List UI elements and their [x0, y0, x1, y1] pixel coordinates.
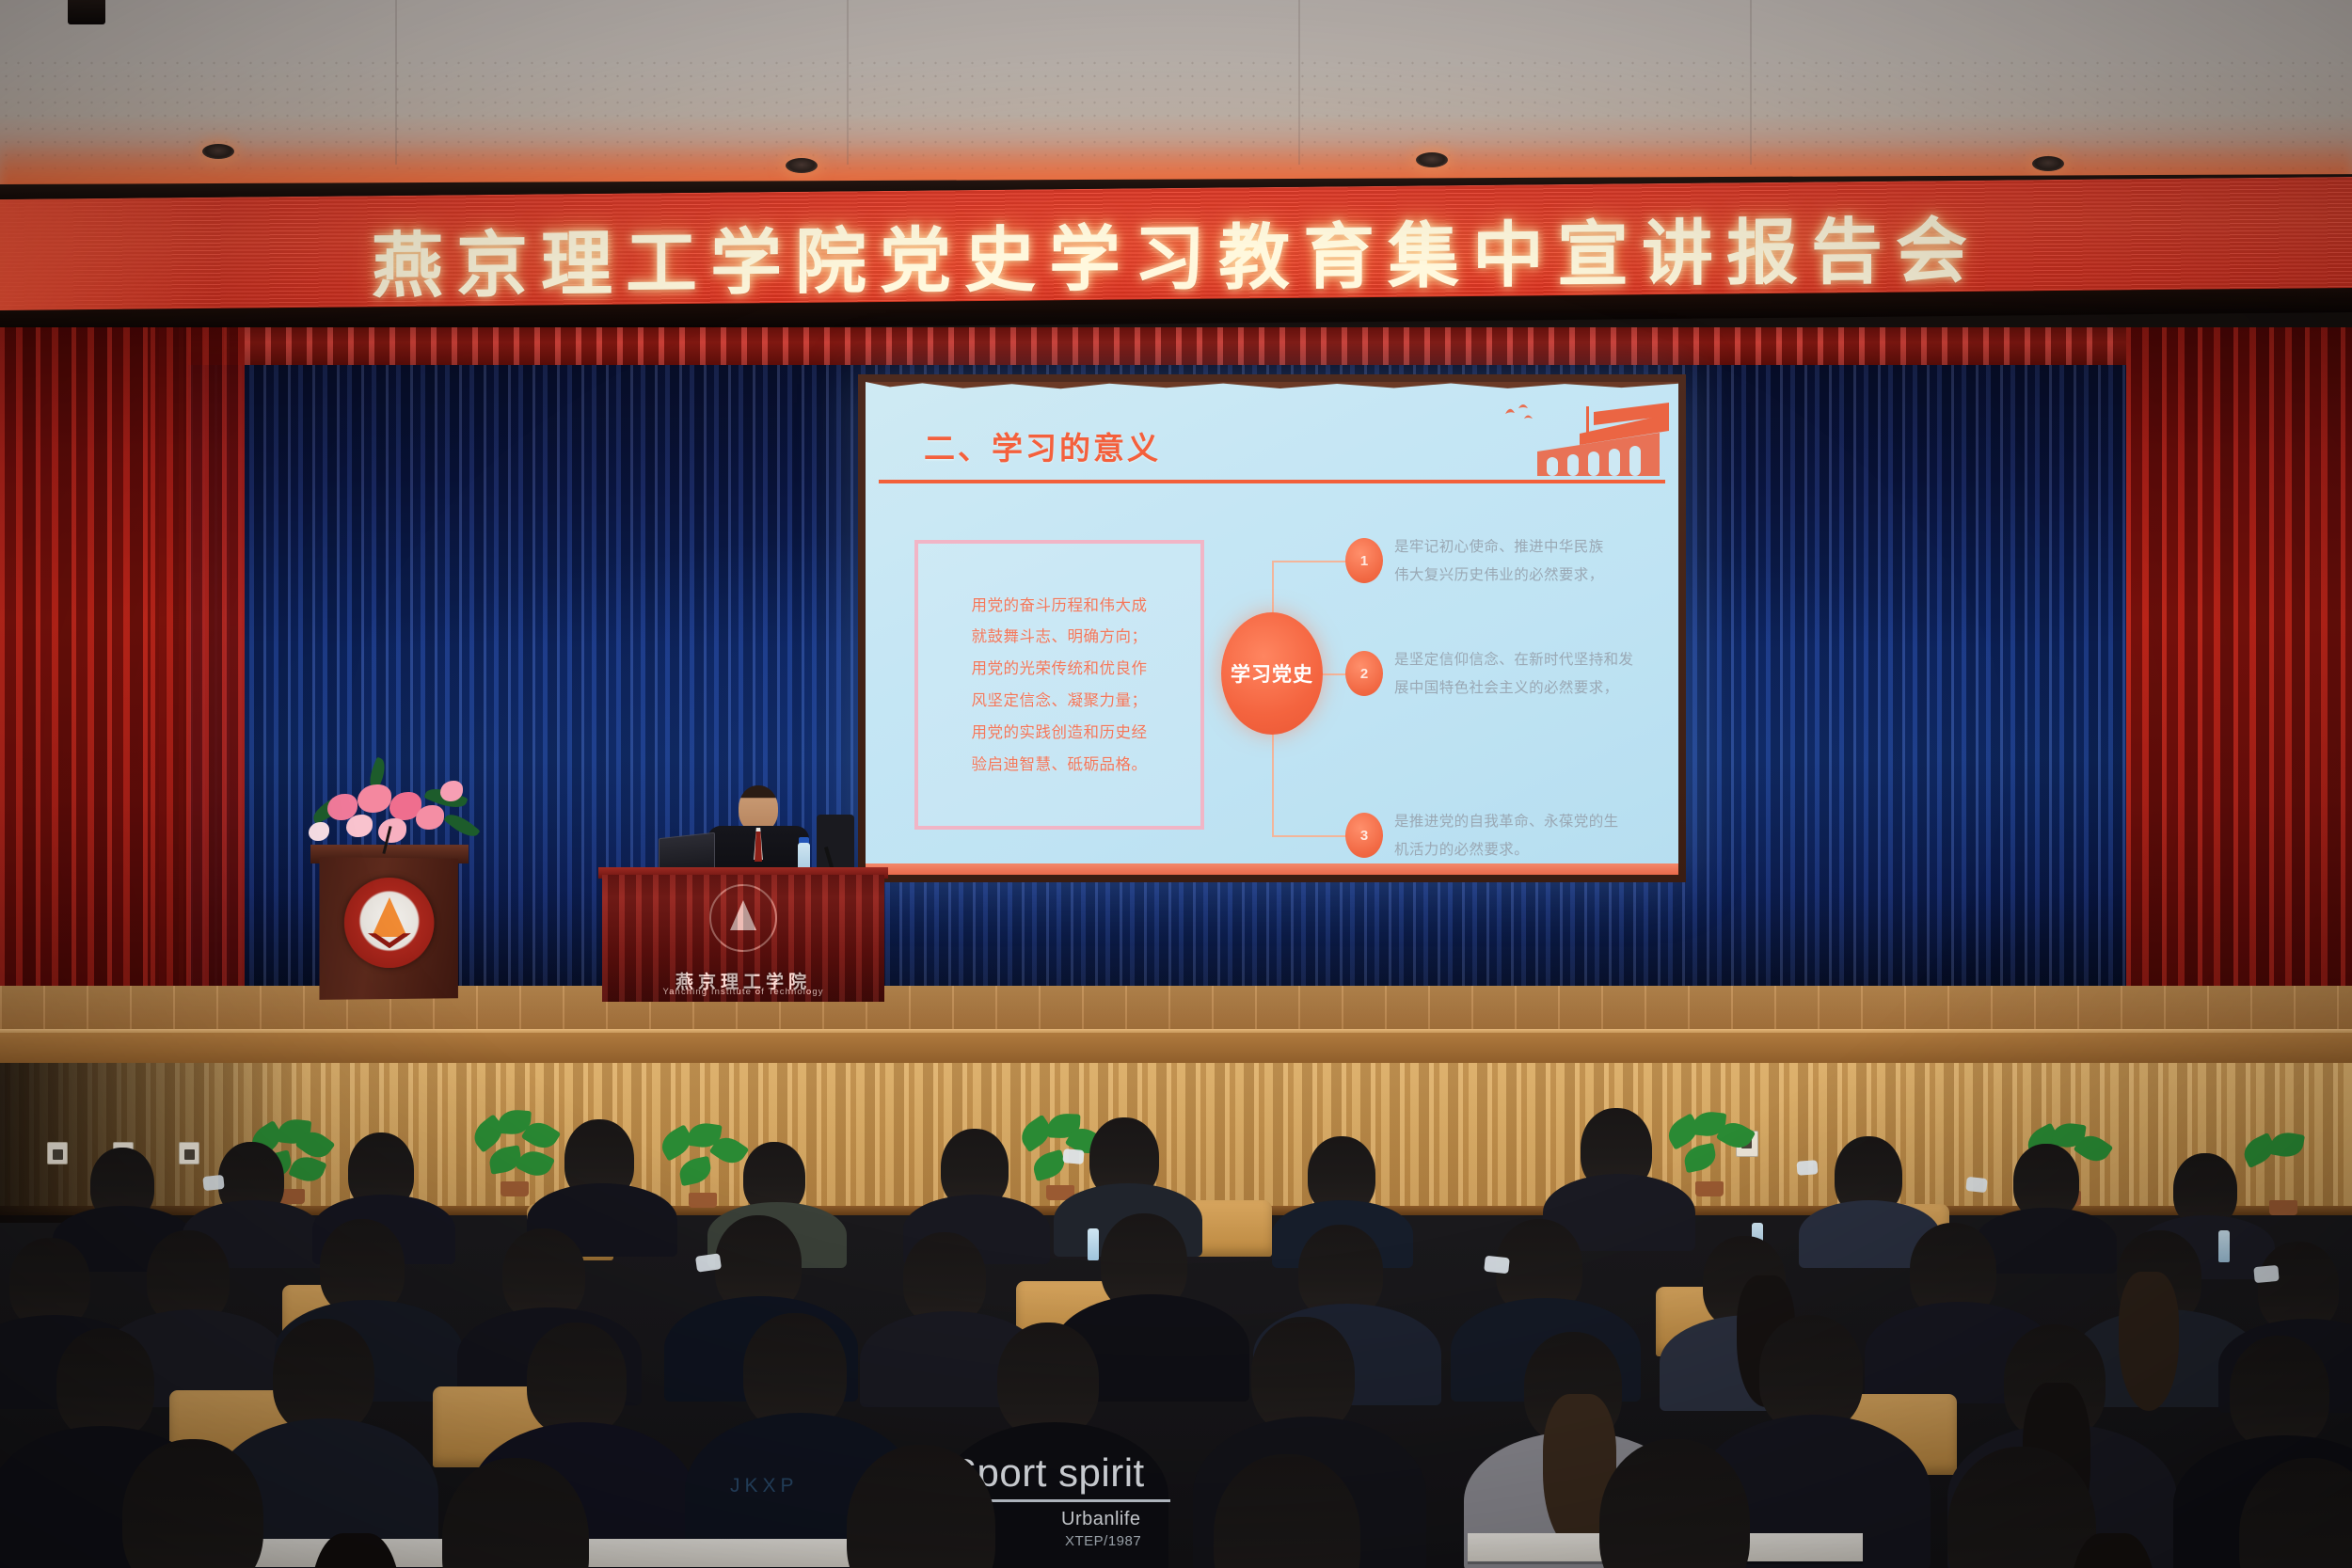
panel-line-5: 用党的实践创造和历史经: [972, 723, 1148, 741]
slide-left-paragraph: 用党的奋斗历程和伟大成 就鼓舞斗志、明确方向； 用党的光荣传统和优良作 风坚定信…: [972, 590, 1148, 781]
table-crest-triangle-icon: [730, 900, 756, 930]
jacket-text-xtep: XTEP/1987: [1065, 1533, 1141, 1549]
face-mask: [1797, 1160, 1819, 1175]
projection-screen-frame: 二、学习的意义: [858, 374, 1686, 882]
ceiling-speaker-box: [68, 0, 105, 24]
doves-icon: [1502, 401, 1539, 425]
slide-bullet-node-3: 3: [1345, 813, 1383, 858]
face-mask: [202, 1175, 224, 1191]
panel-line-6: 验启迪智慧、砥砺品格。: [972, 755, 1148, 773]
red-side-curtain-left-inner: [151, 327, 245, 1023]
slide-left-text-inner: 用党的奋斗历程和伟大成 就鼓舞斗志、明确方向； 用党的光荣传统和优良作 风坚定信…: [928, 553, 1191, 816]
slide-center-bubble: 学习党史: [1221, 612, 1323, 735]
table-crest-icon: [709, 884, 777, 952]
slide-bottom-band: [866, 863, 1678, 875]
slide-bullet-text-1: 是牢记初心使命、推进中华民族 伟大复兴历史伟业的必然要求，: [1394, 532, 1667, 589]
face-mask: [2253, 1265, 2279, 1283]
face-mask: [1062, 1148, 1084, 1164]
lectern: [319, 857, 457, 1000]
ceiling-downlight: [786, 158, 818, 173]
slide-torn-paper-edge: [866, 382, 1678, 390]
potted-plant: [1665, 1110, 1756, 1196]
jacket-text-urbanlife: Urbanlife: [1061, 1509, 1141, 1530]
slide-bullet-node-2: 2: [1345, 651, 1383, 696]
auditorium-photo: 燕京理工学院党史学习教育集中宣讲报告会 二、学习的意义: [0, 0, 2352, 1568]
audience-shoulders: [1976, 1208, 2117, 1274]
bullet-2-line-1: 是坚定信仰信念、在新时代坚持和发: [1394, 651, 1633, 668]
podium-crest-triangle-icon: [372, 897, 407, 937]
red-side-curtain-right: [2126, 327, 2352, 1023]
ceiling-downlight: [1416, 152, 1448, 167]
wall-outlet: [179, 1142, 199, 1164]
water-bottle: [1088, 1228, 1099, 1260]
potted-plant: [2239, 1129, 2329, 1215]
diagram-connector-1: [1272, 561, 1355, 562]
potted-plant: [659, 1121, 749, 1208]
bullet-3-line-2: 机活力的必然要求。: [1394, 841, 1529, 858]
bullet-1-line-1: 是牢记初心使命、推进中华民族: [1394, 538, 1604, 555]
audience-head: [273, 1319, 374, 1433]
ceiling-seam: [395, 0, 397, 165]
ceiling-seam: [1298, 0, 1300, 165]
slide-title: 二、学习的意义: [924, 423, 1161, 468]
red-valance: [141, 327, 2220, 365]
panel-line-3: 用党的光荣传统和优良作: [972, 659, 1148, 677]
face-mask: [1965, 1177, 1987, 1193]
face-mask: [695, 1253, 722, 1272]
tiananmen-icon: [1528, 403, 1669, 478]
bullet-3-line-1: 是推进党的自我革命、永葆党的生: [1394, 813, 1619, 830]
ceiling-downlight: [202, 144, 234, 159]
panel-line-2: 就鼓舞斗志、明确方向；: [972, 627, 1148, 645]
audience-head: [56, 1328, 154, 1439]
slide-title-underline: [879, 480, 1665, 483]
slide-bullet-node-1: 1: [1345, 538, 1383, 583]
diagram-connector-3: [1272, 835, 1355, 837]
audience-seating-area: Sport spirit Urbanlife XTEP/1987 JKXP: [0, 1063, 2352, 1568]
wall-outlet: [47, 1142, 68, 1164]
water-bottle: [2218, 1230, 2230, 1262]
table-english-name: Yanching Institute of Technology: [662, 987, 823, 997]
face-mask: [1484, 1256, 1510, 1275]
jacket-text-jkxp: JKXP: [730, 1475, 799, 1497]
head-table-cloth: 燕京理工学院 Yanching Institute of Technology: [602, 875, 884, 1002]
presentation-slide: 二、学习的意义: [866, 382, 1678, 875]
bullet-1-line-2: 伟大复兴历史伟业的必然要求，: [1394, 566, 1604, 583]
slide-bullet-text-3: 是推进党的自我革命、永葆党的生 机活力的必然要求。: [1394, 807, 1667, 863]
ceiling-downlight: [2032, 156, 2064, 171]
table-chinese-name: 燕京理工学院: [675, 968, 811, 993]
bullet-2-line-2: 展中国特色社会主义的必然要求，: [1394, 679, 1619, 696]
ponytail: [2119, 1272, 2179, 1411]
ceiling-seam: [1750, 0, 1752, 165]
slide-left-text-panel: 用党的奋斗历程和伟大成 就鼓舞斗志、明确方向； 用党的光荣传统和优良作 风坚定信…: [914, 540, 1204, 830]
slide-bullet-text-2: 是坚定信仰信念、在新时代坚持和发 展中国特色社会主义的必然要求，: [1394, 645, 1667, 702]
audience-head: [527, 1323, 627, 1435]
potted-plant: [470, 1110, 561, 1196]
audience-head: [997, 1323, 1099, 1437]
podium-crest-icon: [344, 878, 435, 969]
panel-line-4: 风坚定信念、凝聚力量；: [972, 691, 1148, 709]
ceiling-seam: [847, 0, 849, 165]
audience-head: [2230, 1336, 2329, 1449]
panel-line-1: 用党的奋斗历程和伟大成: [972, 596, 1148, 614]
